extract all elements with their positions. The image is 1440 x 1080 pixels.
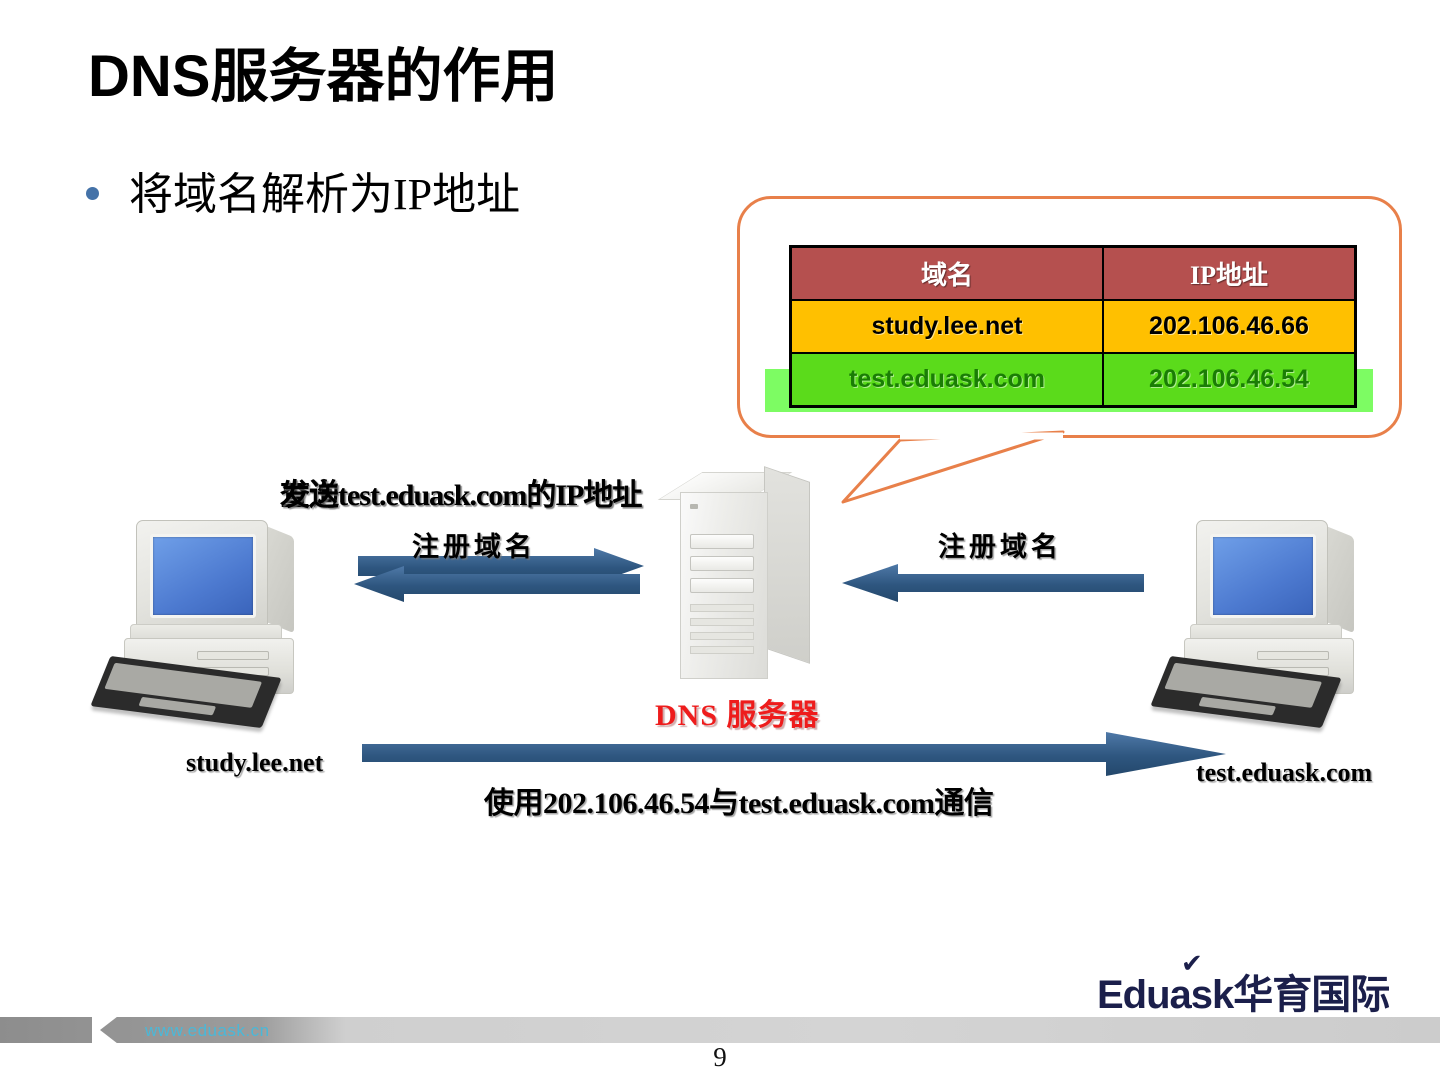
server-led bbox=[690, 504, 698, 509]
table-header-row: 域名 IP地址 bbox=[791, 247, 1356, 301]
arrow-right-register-icon bbox=[836, 562, 1148, 604]
table-row: study.lee.net 202.106.46.66 bbox=[791, 300, 1356, 353]
server-vent bbox=[690, 618, 754, 626]
label-send-ip: 发送test.eduask.com的IP地址 bbox=[280, 470, 641, 514]
server-drive-bay bbox=[690, 556, 754, 571]
bullet-item: 将域名解析为IP地址 bbox=[86, 158, 520, 222]
server-vent bbox=[690, 604, 754, 612]
label-dns-server: DNS 服务器 bbox=[655, 690, 820, 734]
dns-server-icon bbox=[660, 462, 820, 682]
drive-slot bbox=[197, 651, 269, 660]
page-title: DNS服务器的作用 bbox=[88, 45, 558, 109]
eduask-logo: Eduask华育国际 ✔ bbox=[1097, 962, 1389, 1020]
server-vent bbox=[690, 632, 754, 640]
slide-canvas: DNS服务器的作用 将域名解析为IP地址 域名 IP地址 study.lee.n… bbox=[0, 0, 1440, 1080]
label-client-right: test.eduask.com bbox=[1196, 758, 1372, 788]
label-register-left: 注册域名 bbox=[412, 525, 536, 564]
label-client-left: study.lee.net bbox=[186, 748, 323, 778]
drive-slot bbox=[1257, 651, 1329, 660]
dns-records-table: 域名 IP地址 study.lee.net 202.106.46.66 test… bbox=[789, 245, 1357, 408]
cell-ip: 202.106.46.66 bbox=[1103, 300, 1356, 353]
arrow-bottom-communication-icon bbox=[360, 730, 1230, 778]
callout-tail-icon bbox=[795, 430, 1065, 525]
client-computer-right-icon bbox=[1150, 512, 1390, 732]
server-side-panel bbox=[764, 466, 810, 664]
client-computer-left-icon bbox=[90, 512, 330, 732]
server-drive-bay bbox=[690, 534, 754, 549]
cell-domain: test.eduask.com bbox=[791, 353, 1104, 407]
cell-ip: 202.106.46.54 bbox=[1103, 353, 1356, 407]
column-header-domain: 域名 bbox=[791, 247, 1104, 301]
cell-domain: study.lee.net bbox=[791, 300, 1104, 353]
page-number: 9 bbox=[0, 1042, 1440, 1073]
logo-text: Eduask华育国际 bbox=[1097, 973, 1389, 1017]
label-register-right: 注册域名 bbox=[938, 525, 1062, 564]
server-vent bbox=[690, 646, 754, 654]
bullet-text: 将域名解析为IP地址 bbox=[129, 158, 520, 222]
bullet-dot-icon bbox=[86, 187, 99, 200]
server-drive-bay bbox=[690, 578, 754, 593]
monitor-screen bbox=[1210, 534, 1316, 618]
column-header-ip: IP地址 bbox=[1103, 247, 1356, 301]
table-row: test.eduask.com 202.106.46.54 bbox=[791, 353, 1356, 407]
label-communication: 使用202.106.46.54与test.eduask.com通信 bbox=[484, 778, 993, 822]
footer-url[interactable]: www.eduask.cn bbox=[145, 1021, 270, 1041]
check-icon: ✔ bbox=[1181, 948, 1202, 979]
monitor-screen bbox=[150, 534, 256, 618]
